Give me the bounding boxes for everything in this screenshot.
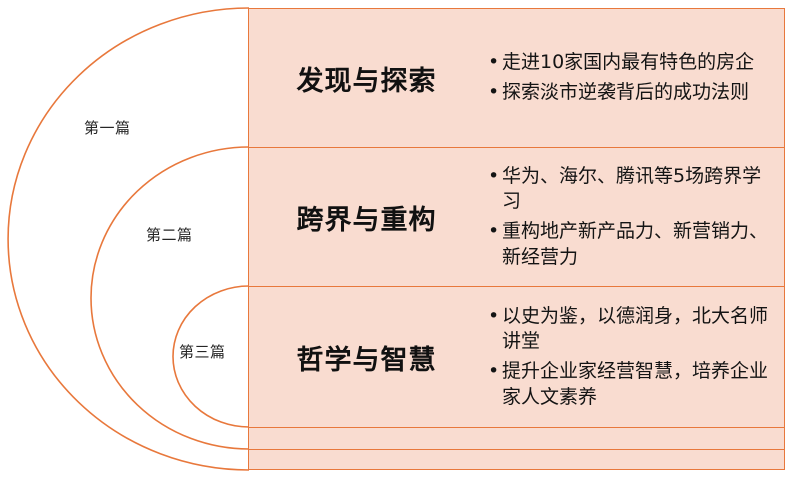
row-title-1: 发现与探索 (249, 9, 484, 147)
bullet-dot-icon: • (488, 80, 502, 106)
bullet-item: • 华为、海尔、腾讯等5场跨界学习 (488, 164, 774, 215)
arc-label-section-3: 第三篇 (179, 345, 226, 360)
bullet-dot-icon: • (488, 359, 502, 385)
bullet-dot-icon: • (488, 219, 502, 245)
bullet-dot-icon: • (488, 50, 502, 76)
row-bullets-2: • 华为、海尔、腾讯等5场跨界学习 • 重构地产新产品力、新营销力、新经营力 (484, 148, 784, 286)
bullet-item: • 探索淡市逆袭背后的成功法则 (488, 80, 774, 106)
row-title-3: 哲学与智慧 (249, 287, 484, 427)
bullet-text: 重构地产新产品力、新营销力、新经营力 (502, 219, 774, 270)
bullet-text: 探索淡市逆袭背后的成功法则 (502, 80, 774, 106)
arc-label-section-1: 第一篇 (84, 121, 131, 136)
bullet-item: • 走进10家国内最有特色的房企 (488, 50, 774, 76)
content-panel: 发现与探索 • 走进10家国内最有特色的房企 • 探索淡市逆袭背后的成功法则 跨… (248, 8, 785, 470)
empty-strip-1-content (249, 428, 784, 449)
middle-arc (91, 147, 249, 449)
outer-arc (8, 8, 249, 470)
row-bullets-1: • 走进10家国内最有特色的房企 • 探索淡市逆袭背后的成功法则 (484, 9, 784, 147)
bullet-item: • 重构地产新产品力、新营销力、新经营力 (488, 219, 774, 270)
empty-strip-1 (249, 428, 784, 450)
empty-strip-2-content (249, 450, 784, 471)
empty-strip-2 (249, 450, 784, 471)
bullet-item: • 提升企业家经营智慧，培养企业家人文素养 (488, 359, 774, 410)
row-bullets-3: • 以史为鉴，以德润身，北大名师讲堂 • 提升企业家经营智慧，培养企业家人文素养 (484, 287, 784, 427)
bullet-dot-icon: • (488, 164, 502, 190)
bullet-text: 以史为鉴，以德润身，北大名师讲堂 (502, 304, 774, 355)
arc-label-section-2: 第二篇 (146, 228, 193, 243)
row-title-2: 跨界与重构 (249, 148, 484, 286)
bullet-item: • 以史为鉴，以德润身，北大名师讲堂 (488, 304, 774, 355)
diagram-canvas: 第一篇 第二篇 第三篇 发现与探索 • 走进10家国内最有特色的房企 • 探索淡… (0, 0, 800, 482)
content-row-1: 发现与探索 • 走进10家国内最有特色的房企 • 探索淡市逆袭背后的成功法则 (249, 9, 784, 148)
bullet-text: 走进10家国内最有特色的房企 (502, 50, 774, 76)
content-row-2: 跨界与重构 • 华为、海尔、腾讯等5场跨界学习 • 重构地产新产品力、新营销力、… (249, 148, 784, 287)
bullet-text: 华为、海尔、腾讯等5场跨界学习 (502, 164, 774, 215)
bullet-text: 提升企业家经营智慧，培养企业家人文素养 (502, 359, 774, 410)
content-row-3: 哲学与智慧 • 以史为鉴，以德润身，北大名师讲堂 • 提升企业家经营智慧，培养企… (249, 287, 784, 428)
bullet-dot-icon: • (488, 304, 502, 330)
